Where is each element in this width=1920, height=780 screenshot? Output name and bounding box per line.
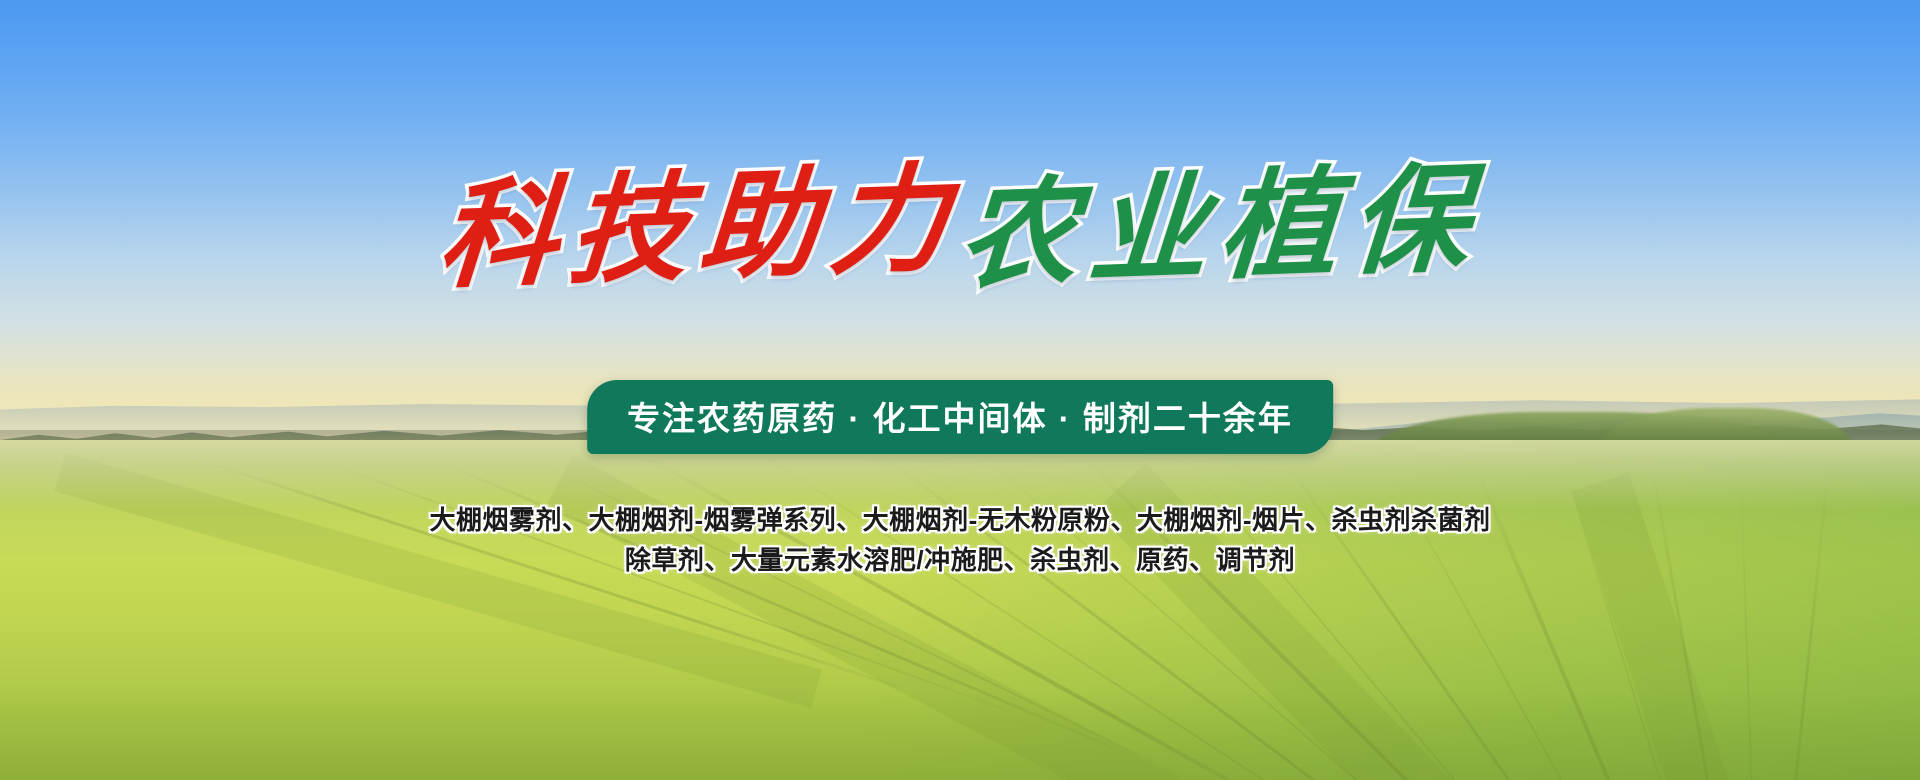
headline-segment-green: 农业植保 [955, 159, 1485, 295]
product-list: 大棚烟雾剂、大棚烟剂-烟雾弹系列、大棚烟剂-无木粉原粉、大棚烟剂-烟片、杀虫剂杀… [0, 500, 1920, 580]
page-title: 科技助力农业植保 [0, 168, 1920, 286]
tagline-badge: 专注农药原药 · 化工中间体 · 制剂二十余年 [587, 380, 1333, 454]
product-list-line-2: 除草剂、大量元素水溶肥/冲施肥、杀虫剂、原药、调节剂 [0, 540, 1920, 580]
headline-segment-red: 科技助力 [435, 159, 965, 295]
field-foreground-shade [0, 690, 1920, 780]
hero-banner: 科技助力农业植保 专注农药原药 · 化工中间体 · 制剂二十余年 大棚烟雾剂、大… [0, 0, 1920, 780]
product-list-line-1: 大棚烟雾剂、大棚烟剂-烟雾弹系列、大棚烟剂-无木粉原粉、大棚烟剂-烟片、杀虫剂杀… [0, 500, 1920, 540]
